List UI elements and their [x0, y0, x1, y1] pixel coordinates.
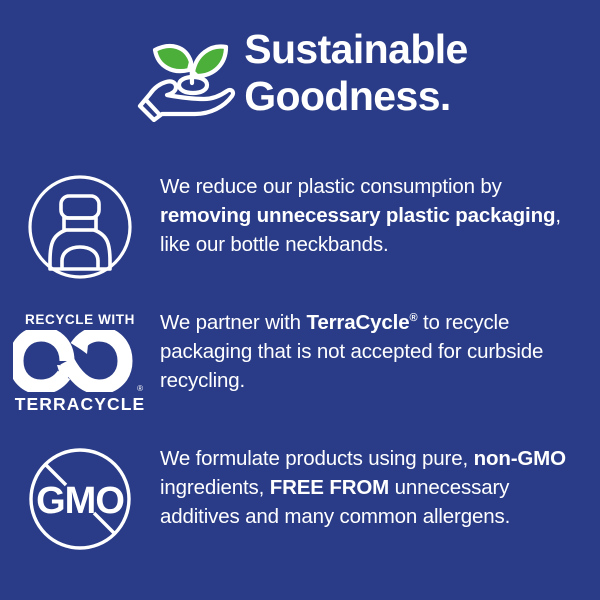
- feature-text-seg: ingredients,: [160, 476, 270, 499]
- page-title: Sustainable Goodness.: [244, 24, 468, 120]
- feature-text-seg: We partner with: [160, 311, 306, 334]
- feature-text-seg-bold: FREE FROM: [270, 476, 389, 499]
- no-gmo-circle-icon: GMO: [0, 432, 160, 562]
- feature-row-gmo: GMO We formulate products using pure, no…: [0, 432, 600, 568]
- sustainable-goodness-poster: Sustainable Goodness. We reduce o: [0, 0, 600, 600]
- feature-row-terracycle: RECYCLE WITH: [0, 296, 600, 432]
- bottle-neckband-circle-icon: [0, 160, 160, 290]
- brand-lockup: Sustainable Goodness.: [0, 22, 600, 122]
- feature-text-seg-bold: removing unnecessary plastic packaging: [160, 204, 555, 227]
- infinity-arrows-icon: ®: [13, 330, 147, 392]
- hand-holding-sprout-icon: [132, 22, 236, 122]
- feature-text-seg-bold: non-GMO: [474, 447, 566, 470]
- feature-text-gmo: We formulate products using pure, non-GM…: [160, 432, 600, 531]
- feature-list: We reduce our plastic consumption by rem…: [0, 160, 600, 568]
- svg-text:GMO: GMO: [36, 480, 124, 522]
- terracycle-logo: RECYCLE WITH: [0, 296, 160, 426]
- feature-row-plastic: We reduce our plastic consumption by rem…: [0, 160, 600, 296]
- feature-text-seg-bold: TerraCycle: [306, 311, 409, 334]
- feature-text-plastic: We reduce our plastic consumption by rem…: [160, 160, 600, 259]
- terracycle-bottom-label: TERRACYCLE: [15, 394, 146, 415]
- registered-mark: ®: [137, 385, 143, 393]
- feature-text-terracycle: We partner with TerraCycle® to recycle p…: [160, 296, 600, 395]
- feature-text-seg: We reduce our plastic consumption by: [160, 175, 502, 198]
- feature-text-seg: We formulate products using pure,: [160, 447, 474, 470]
- terracycle-top-label: RECYCLE WITH: [25, 312, 135, 327]
